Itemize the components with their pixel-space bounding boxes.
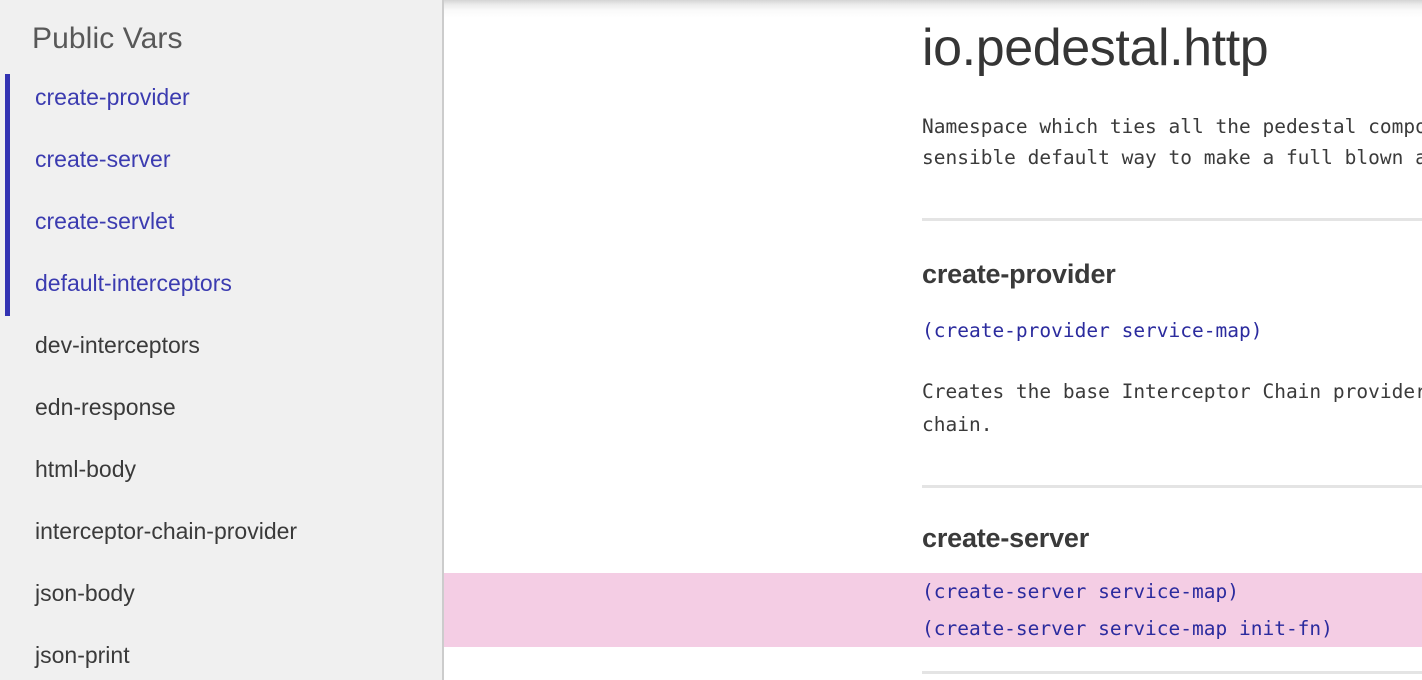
sidebar-item-label: create-provider — [35, 70, 442, 109]
var-signatures-create-server[interactable]: (create-server service-map) (create-serv… — [444, 573, 1422, 647]
sidebar: Public Vars create-provider create-serve… — [0, 0, 444, 680]
namespace-document: io.pedestal.http Namespace which ties al… — [444, 0, 1422, 674]
page-title: io.pedestal.http — [444, 0, 1422, 77]
sidebar-heading: Public Vars — [0, 0, 442, 55]
var-signatures-create-provider: (create-provider service-map) — [444, 312, 1422, 349]
section-divider — [922, 218, 1422, 221]
sidebar-item-label: html-body — [35, 442, 442, 481]
sidebar-item-dev-interceptors[interactable]: dev-interceptors — [0, 318, 442, 380]
sidebar-item-create-server[interactable]: create-server — [0, 132, 442, 194]
active-group-accent-bar — [5, 74, 10, 316]
sidebar-item-create-provider[interactable]: create-provider — [0, 70, 442, 132]
var-description-create-provider: Creates the base Interceptor Chain provi… — [444, 375, 1422, 441]
sidebar-item-label: interceptor-chain-provider — [35, 504, 442, 543]
sidebar-item-label: create-servlet — [35, 194, 442, 233]
documentation-page: Public Vars create-provider create-serve… — [0, 0, 1422, 680]
var-heading-create-server: create-server — [444, 525, 1422, 552]
sidebar-item-create-servlet[interactable]: create-servlet — [0, 194, 442, 256]
sidebar-item-json-print[interactable]: json-print — [0, 628, 442, 680]
sidebar-item-label: create-server — [35, 132, 442, 171]
section-divider — [922, 671, 1422, 674]
sidebar-item-interceptor-chain-provider[interactable]: interceptor-chain-provider — [0, 504, 442, 566]
sidebar-item-label: edn-response — [35, 380, 442, 419]
namespace-description: Namespace which ties all the pedestal co… — [444, 77, 1422, 173]
sidebar-item-default-interceptors[interactable]: default-interceptors — [0, 256, 442, 318]
sidebar-item-label: dev-interceptors — [35, 318, 442, 357]
sidebar-item-label: default-interceptors — [35, 256, 442, 295]
public-vars-nav: create-provider create-server create-ser… — [0, 70, 442, 680]
main-content: io.pedestal.http Namespace which ties al… — [444, 0, 1422, 680]
sidebar-item-label: json-print — [35, 628, 442, 667]
sidebar-item-html-body[interactable]: html-body — [0, 442, 442, 504]
var-heading-create-provider: create-provider — [444, 261, 1422, 288]
section-divider — [922, 485, 1422, 488]
sidebar-item-json-body[interactable]: json-body — [0, 566, 442, 628]
sidebar-item-edn-response[interactable]: edn-response — [0, 380, 442, 442]
sidebar-item-label: json-body — [35, 566, 442, 605]
